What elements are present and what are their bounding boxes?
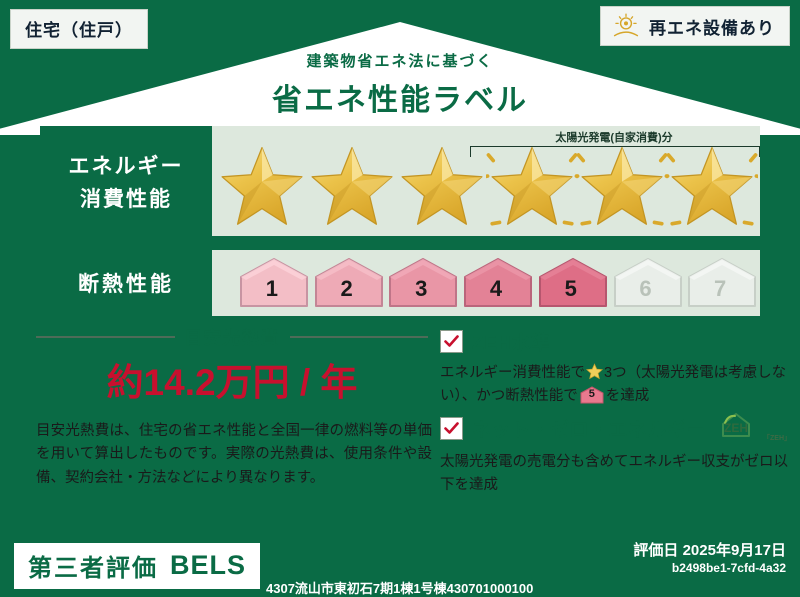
svg-text:ZEH: ZEH <box>724 421 748 435</box>
renewable-badge-label: 再エネ設備あり <box>649 14 775 39</box>
star-icon <box>486 144 578 232</box>
inline-grade-number: 5 <box>580 386 604 404</box>
star-icon <box>306 144 398 232</box>
star-solar <box>488 143 576 233</box>
energy-row-label: エネルギー 消費性能 <box>40 126 212 236</box>
insulation-grade-1: 1 <box>238 257 306 309</box>
star-rating <box>218 142 756 234</box>
evaluation-date: 評価日 2025年9月17日 <box>633 539 786 560</box>
zeh-logo: ZEH 「ZEH」 <box>719 412 771 444</box>
insulation-performance-panel: 断熱性能 1 2 3 4 <box>40 250 760 316</box>
grade-number: 4 <box>490 276 502 309</box>
rule-right <box>290 336 429 338</box>
zeh-logo-subtext: 「ZEH」 <box>763 433 791 443</box>
evaluation-id: b2498be1-7cfd-4a32 <box>672 561 786 575</box>
net-zero-body: 太陽光発電の売電分も含めてエネルギー収支がゼロ以下を達成 <box>440 451 788 497</box>
property-address: 4307流山市東初石7期1棟1号棟430701000100 <box>266 578 533 597</box>
net-zero-title: ネット・ゼロ・エネルギー <box>472 415 706 442</box>
net-zero-header: ネット・ゼロ・エネルギー ZEH 「ZEH」 <box>440 412 788 444</box>
insulation-row-label: 断熱性能 <box>40 250 212 316</box>
zeh-body-part1: エネルギー消費性能で <box>440 365 585 381</box>
star-icon <box>586 363 603 380</box>
utility-cost-heading: 目安光熱費 <box>36 324 428 350</box>
star-solar <box>578 143 666 233</box>
insulation-grade-6: 6 <box>612 257 680 309</box>
sun-icon <box>611 12 641 40</box>
grade-number: 7 <box>714 276 726 309</box>
energy-label-line2: 消費性能 <box>80 183 172 213</box>
page-title: 省エネ性能ラベル <box>0 75 800 119</box>
title-subtitle: 建築物省エネ法に基づく <box>0 50 800 71</box>
rule-left <box>36 336 175 338</box>
zeh-body-part3: を達成 <box>606 388 650 404</box>
insulation-grade-7: 7 <box>686 257 754 309</box>
star-filled <box>398 143 486 233</box>
utility-cost-value: 約14.2万円 / 年 <box>36 352 428 406</box>
net-zero-energy-item: ネット・ゼロ・エネルギー ZEH 「ZEH」 太陽光発電の売電分も含めてエネルギ… <box>440 412 788 497</box>
renewable-equipment-badge: 再エネ設備あり <box>600 6 790 46</box>
checkbox-net-zero-energy[interactable] <box>440 417 463 440</box>
building-type-chip: 住宅（住戸） <box>10 9 148 49</box>
star-icon <box>576 144 668 232</box>
third-party-label: 第三者評価 <box>28 548 158 583</box>
zeh-standard-body: エネルギー消費性能で3つ（太陽光発電は考慮しない）、かつ断熱性能で5を達成 <box>440 362 788 408</box>
star-solar <box>668 143 756 233</box>
check-icon <box>444 422 459 435</box>
zeh-standard-title: ZEH水準 <box>472 328 551 355</box>
footer-bar: 第三者評価 BELS 4307流山市東初石7期1棟1号棟430701000100… <box>0 531 800 597</box>
star-icon <box>216 144 308 232</box>
insulation-grade-3: 3 <box>387 257 455 309</box>
utility-cost-label: 目安光熱費 <box>185 324 280 350</box>
star-filled <box>218 143 306 233</box>
grade-number: 1 <box>266 276 278 309</box>
bels-label: 住宅（住戸） 再エネ設備あり 建築物省エネ法に基づく 省エネ性能ラベル エネルギ… <box>0 0 800 597</box>
bels-certification-box: 第三者評価 BELS <box>14 543 260 589</box>
zeh-standard-header: ZEH水準 <box>440 328 788 355</box>
insulation-grade-scale: 1 2 3 4 5 <box>218 250 754 316</box>
utility-cost-note: 目安光熱費は、住宅の省エネ性能と全国一律の燃料等の単価を用いて算出したものです。… <box>36 420 432 490</box>
checkbox-zeh-standard[interactable] <box>440 330 463 353</box>
star-icon <box>396 144 488 232</box>
star-icon <box>666 144 758 232</box>
energy-performance-panel: エネルギー 消費性能 太陽光発電(自家消費)分 <box>40 126 760 236</box>
title-block: 建築物省エネ法に基づく 省エネ性能ラベル <box>0 50 800 119</box>
star-filled <box>308 143 396 233</box>
grade-number: 2 <box>340 276 352 309</box>
bels-logo-text: BELS <box>170 550 246 581</box>
inline-grade-badge: 5 <box>580 386 604 404</box>
insulation-grade-2: 2 <box>313 257 381 309</box>
energy-label-line1: エネルギー <box>69 150 184 180</box>
insulation-grade-4: 4 <box>462 257 530 309</box>
grade-number: 3 <box>415 276 427 309</box>
grade-number: 6 <box>639 276 651 309</box>
insulation-grade-5: 5 <box>537 257 605 309</box>
stars-area: 太陽光発電(自家消費)分 <box>218 126 756 236</box>
zeh-standard-item: ZEH水準 エネルギー消費性能で3つ（太陽光発電は考慮しない）、かつ断熱性能で5… <box>440 328 788 408</box>
check-icon <box>444 335 459 348</box>
grade-number: 5 <box>565 276 577 309</box>
